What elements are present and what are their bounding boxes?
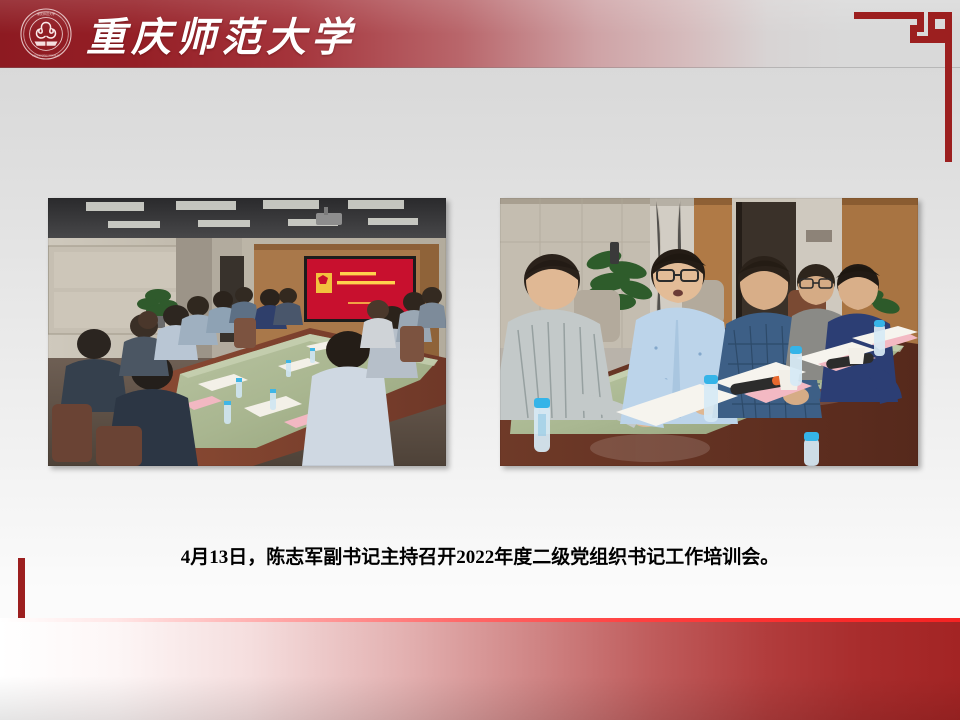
university-seal-icon: 重庆师范大学 CHONGQING NORMAL — [20, 8, 72, 60]
footer-band — [0, 622, 960, 720]
svg-text:CHONGQING NORMAL: CHONGQING NORMAL — [32, 54, 60, 57]
slide-root: 重庆师范大学 CHONGQING NORMAL 重庆师范大学 — [0, 0, 960, 720]
svg-text:重庆师范大学: 重庆师范大学 — [37, 11, 55, 16]
photo-meeting-room-wide — [48, 198, 446, 466]
meander-corner-ornament-icon — [850, 8, 960, 168]
photo-speakers-at-table — [500, 198, 918, 466]
university-name-title: 重庆师范大学 — [86, 4, 356, 64]
header-divider — [0, 67, 960, 68]
